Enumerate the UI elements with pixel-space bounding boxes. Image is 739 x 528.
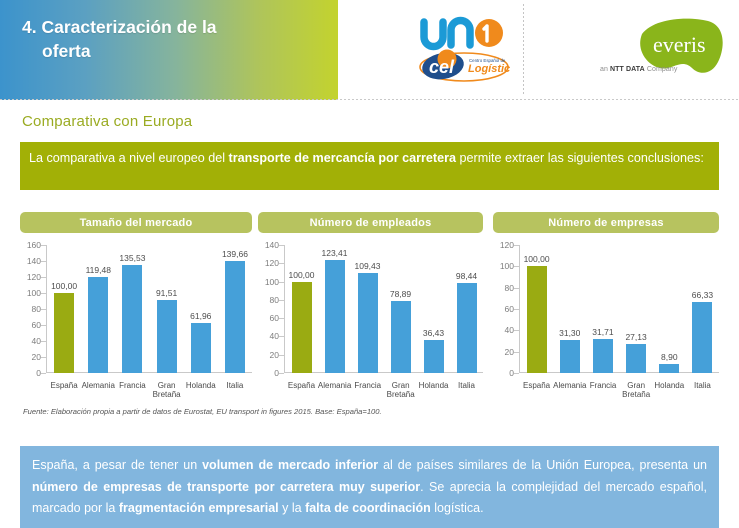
bar-value-label: 100,00 — [524, 254, 550, 264]
bar[interactable] — [527, 266, 547, 373]
y-tick-label: 40 — [32, 336, 41, 346]
section-title: Comparativa con Europa — [22, 113, 192, 130]
y-tick-label: 120 — [27, 272, 41, 282]
x-tick-label: GranBretaña — [620, 381, 653, 399]
y-axis-labels: 020406080100120140 — [258, 245, 282, 373]
bar-item[interactable]: 31,71 — [586, 245, 619, 373]
y-tick-label: 100 — [27, 288, 41, 298]
y-tick-label: 40 — [505, 325, 514, 335]
x-tick-label: Holanda — [653, 381, 686, 399]
y-tick-label: 100 — [265, 277, 279, 287]
bar[interactable] — [292, 282, 312, 373]
bar-value-label: 36,43 — [423, 328, 444, 338]
bar[interactable] — [593, 339, 613, 373]
chart-title-banner: Número de empleados — [258, 212, 483, 233]
bar-item[interactable]: 91,51 — [150, 245, 184, 373]
x-tick-label: GranBretaña — [150, 381, 184, 399]
everis-tagline: an NTT DATA Company — [600, 66, 720, 73]
blue-text-c: al de países similares de la Unión Europ… — [378, 458, 707, 472]
x-tick-label: España — [520, 381, 553, 399]
bar-value-label: 123,41 — [322, 248, 348, 258]
everis-tagline-pre: an — [600, 66, 610, 73]
chart-title-banner: Número de empresas — [493, 212, 719, 233]
y-tick-label: 60 — [270, 313, 279, 323]
header-logo-divider — [523, 4, 524, 96]
bar-item[interactable]: 100,00 — [285, 245, 318, 373]
bar-value-label: 91,51 — [156, 288, 177, 298]
blue-text-i: logística. — [431, 501, 484, 515]
bar[interactable] — [457, 283, 477, 373]
x-tick-label: Italia — [450, 381, 483, 399]
x-tick-label: Holanda — [417, 381, 450, 399]
chart-numero-de-empresas: Número de empresas 020406080100120 100,0… — [493, 212, 719, 397]
bar-value-label: 119,48 — [86, 265, 111, 275]
x-tick-label: Italia — [686, 381, 719, 399]
everis-tagline-brand: NTT DATA — [610, 66, 645, 73]
y-axis-labels: 020406080100120 — [493, 245, 517, 373]
bar-value-label: 66,33 — [692, 290, 713, 300]
x-tick-label: España — [285, 381, 318, 399]
x-tick-label: Francia — [115, 381, 149, 399]
chart-plot-area: 020406080100120 100,0031,3031,7127,138,9… — [493, 245, 719, 393]
bar[interactable] — [692, 302, 712, 373]
slide: 4. Caracterización de la oferta cel Cent… — [0, 0, 739, 528]
bar-value-label: 135,53 — [119, 253, 145, 263]
page-title: 4. Caracterización de la oferta — [22, 16, 282, 63]
bar-item[interactable]: 119,48 — [81, 245, 115, 373]
blue-text-a: España, a pesar de tener un — [32, 458, 202, 472]
uno-cel-logo: cel Centro Español de Logística — [418, 14, 510, 84]
bar-item[interactable]: 36,43 — [417, 245, 450, 373]
bar-value-label: 61,96 — [190, 311, 211, 321]
x-tick-label: Alemania — [553, 381, 586, 399]
bar-value-label: 109,43 — [355, 261, 381, 271]
blue-conclusion-callout: España, a pesar de tener un volumen de m… — [20, 446, 719, 528]
y-tick-label: 100 — [500, 261, 514, 271]
y-tick-label: 40 — [270, 331, 279, 341]
bar-value-label: 139,66 — [222, 249, 248, 259]
page-title-line1: 4. Caracterización de la — [22, 17, 217, 37]
bar[interactable] — [325, 260, 345, 373]
bar-item[interactable]: 31,30 — [553, 245, 586, 373]
y-tick-label: 80 — [270, 295, 279, 305]
bar-value-label: 100,00 — [289, 270, 315, 280]
y-tick-mark — [514, 373, 519, 374]
bar-item[interactable]: 123,41 — [318, 245, 351, 373]
bar[interactable] — [626, 344, 646, 373]
svg-text:everis: everis — [653, 32, 706, 57]
bar-item[interactable]: 98,44 — [450, 245, 483, 373]
x-tick-label: España — [47, 381, 81, 399]
y-tick-mark — [279, 373, 284, 374]
bar-series: 100,00119,48135,5391,5161,96139,66 — [47, 245, 252, 373]
slide-header: 4. Caracterización de la oferta cel Cent… — [0, 0, 739, 100]
x-tick-label: GranBretaña — [384, 381, 417, 399]
x-axis-labels: EspañaAlemaniaFranciaGranBretañaHolandaI… — [285, 381, 483, 399]
x-tick-label: Alemania — [318, 381, 351, 399]
y-tick-label: 60 — [32, 320, 41, 330]
bar[interactable] — [391, 301, 411, 373]
bar-item[interactable]: 109,43 — [351, 245, 384, 373]
chart-tamano-del-mercado: Tamaño del mercado 020406080100120140160… — [20, 212, 252, 397]
chart-numero-de-empleados: Número de empleados 020406080100120140 1… — [258, 212, 483, 397]
green-callout-post: permite extraer las siguientes conclusio… — [456, 151, 704, 165]
bar[interactable] — [225, 261, 245, 373]
bar-item[interactable]: 78,89 — [384, 245, 417, 373]
blue-text-f: fragmentación empresarial — [119, 501, 279, 515]
green-callout: La comparativa a nivel europeo del trans… — [20, 142, 719, 190]
bar-item[interactable]: 100,00 — [47, 245, 81, 373]
y-tick-label: 140 — [265, 240, 279, 250]
y-tick-label: 120 — [265, 258, 279, 268]
chart-plot-area: 020406080100120140160 100,00119,48135,53… — [20, 245, 252, 393]
bar[interactable] — [88, 277, 108, 373]
x-axis-labels: EspañaAlemaniaFranciaGranBretañaHolandaI… — [47, 381, 252, 399]
blue-text-g: y la — [279, 501, 305, 515]
x-tick-label: Holanda — [184, 381, 218, 399]
y-tick-label: 20 — [270, 350, 279, 360]
x-tick-label: Francia — [351, 381, 384, 399]
green-callout-pre: La comparativa a nivel europeo del — [29, 151, 229, 165]
x-tick-label: Alemania — [81, 381, 115, 399]
bar-item[interactable]: 100,00 — [520, 245, 553, 373]
bars-container: 100,00119,48135,5391,5161,96139,66 — [47, 245, 252, 373]
bars-container: 100,00123,41109,4378,8936,4398,44 — [285, 245, 483, 373]
blue-text-d: número de empresas de transporte por car… — [32, 480, 420, 494]
bar[interactable] — [157, 300, 177, 373]
bar[interactable] — [191, 323, 211, 373]
bar-series: 100,0031,3031,7127,138,9066,33 — [520, 245, 719, 373]
bar-item[interactable]: 139,66 — [218, 245, 252, 373]
y-tick-label: 120 — [500, 240, 514, 250]
bar-value-label: 100,00 — [51, 281, 77, 291]
bar-series: 100,00123,41109,4378,8936,4398,44 — [285, 245, 483, 373]
y-tick-label: 20 — [505, 347, 514, 357]
bars-container: 100,0031,3031,7127,138,9066,33 — [520, 245, 719, 373]
y-tick-label: 140 — [27, 256, 41, 266]
y-tick-label: 160 — [27, 240, 41, 250]
bar[interactable] — [560, 340, 580, 373]
bar-item[interactable]: 27,13 — [620, 245, 653, 373]
everis-tagline-post: Company — [645, 66, 678, 73]
bar-item[interactable]: 66,33 — [686, 245, 719, 373]
bar-item[interactable]: 61,96 — [184, 245, 218, 373]
bar[interactable] — [424, 340, 444, 373]
y-tick-label: 80 — [32, 304, 41, 314]
y-tick-label: 60 — [505, 304, 514, 314]
bar-value-label: 8,90 — [661, 352, 678, 362]
svg-text:Logística: Logística — [468, 63, 510, 75]
bar-value-label: 78,89 — [390, 289, 411, 299]
bar[interactable] — [358, 273, 378, 373]
x-axis-labels: EspañaAlemaniaFranciaGranBretañaHolandaI… — [520, 381, 719, 399]
bar-value-label: 31,71 — [592, 327, 613, 337]
x-tick-label: Francia — [586, 381, 619, 399]
green-callout-bold: transporte de mercancía por carretera — [229, 151, 457, 165]
bar[interactable] — [659, 364, 679, 373]
y-tick-mark — [41, 373, 46, 374]
bar-value-label: 98,44 — [456, 271, 477, 281]
bar[interactable] — [122, 265, 142, 373]
blue-text-b: volumen de mercado inferior — [202, 458, 378, 472]
y-tick-label: 80 — [505, 283, 514, 293]
x-tick-label: Italia — [218, 381, 252, 399]
chart-plot-area: 020406080100120140 100,00123,41109,4378,… — [258, 245, 483, 393]
bar-value-label: 27,13 — [625, 332, 646, 342]
svg-text:cel: cel — [429, 57, 455, 77]
y-tick-label: 20 — [32, 352, 41, 362]
bar-item[interactable]: 8,90 — [653, 245, 686, 373]
y-axis-labels: 020406080100120140160 — [20, 245, 44, 373]
everis-logo: everis — [596, 14, 731, 86]
header-bottom-rule — [0, 99, 739, 100]
chart-title-banner: Tamaño del mercado — [20, 212, 252, 233]
bar-item[interactable]: 135,53 — [115, 245, 149, 373]
source-note: Fuente: Elaboración propia a partir de d… — [23, 407, 382, 416]
page-title-line2: oferta — [22, 40, 282, 64]
bar-value-label: 31,30 — [559, 328, 580, 338]
blue-text-h: falta de coordinación — [305, 501, 431, 515]
bar[interactable] — [54, 293, 74, 373]
